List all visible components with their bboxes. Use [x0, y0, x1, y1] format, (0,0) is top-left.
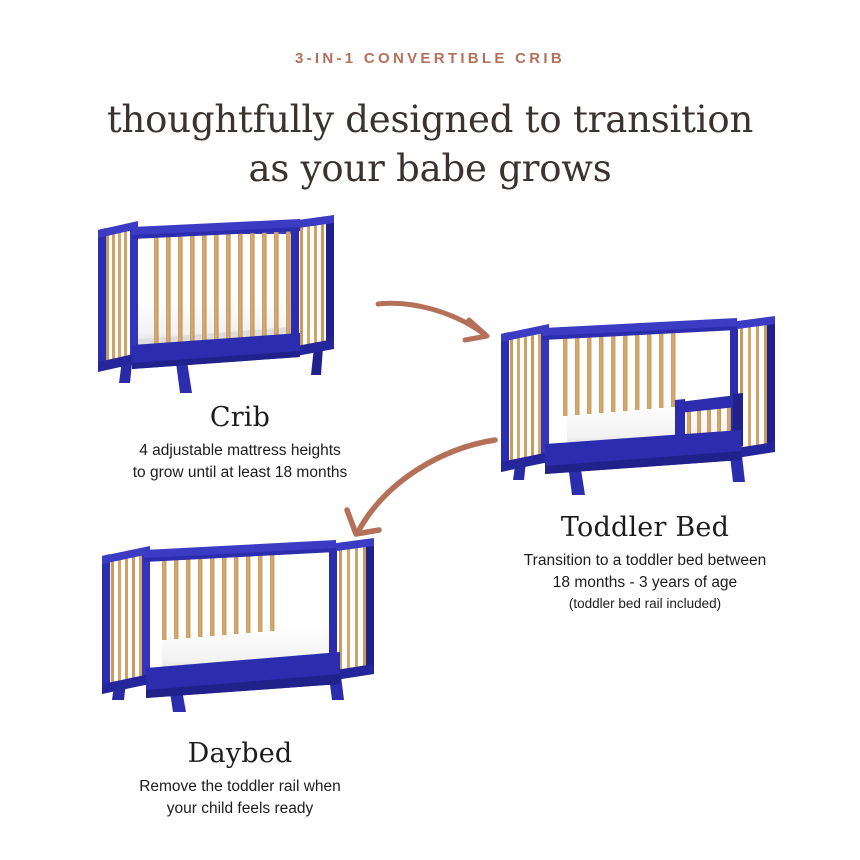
toddler-bed-caption: Toddler Bed Transition to a toddler bed … — [465, 512, 825, 614]
page-title: thoughtfully designed to transition as y… — [0, 96, 860, 194]
daybed-desc-line-1: Remove the toddler rail when — [45, 776, 435, 798]
toddler-bed-desc-line-1: Transition to a toddler bed between — [465, 550, 825, 572]
toddler-bed-back-rail — [543, 318, 737, 340]
daybed-back-slats — [162, 550, 274, 640]
crib-desc-line-2: to grow until at least 18 months — [50, 462, 430, 484]
toddler-bed-left-panel — [501, 324, 549, 472]
infographic-page: 3-IN-1 CONVERTIBLE CRIB thoughtfully des… — [0, 0, 860, 860]
crib-title: Crib — [50, 402, 430, 433]
crib-illustration — [92, 205, 337, 395]
toddler-bed-title: Toddler Bed — [465, 512, 825, 543]
headline-line-2: as your babe grows — [0, 145, 860, 194]
crib-caption: Crib 4 adjustable mattress heights to gr… — [50, 402, 430, 484]
daybed-back-rail — [144, 540, 336, 562]
daybed-illustration — [100, 532, 385, 714]
daybed-desc-line-2: your child feels ready — [45, 798, 435, 820]
daybed-caption: Daybed Remove the toddler rail when your… — [45, 738, 435, 820]
toddler-bed-illustration — [497, 312, 782, 497]
daybed-left-panel — [102, 546, 150, 694]
daybed-title: Daybed — [45, 738, 435, 769]
headline-line-1: thoughtfully designed to transition — [107, 98, 753, 141]
toddler-bed-desc-line-2: 18 months - 3 years of age — [465, 572, 825, 594]
toddler-bed-back-slats — [563, 328, 675, 416]
eyebrow-label: 3-IN-1 CONVERTIBLE CRIB — [0, 50, 860, 67]
crib-desc-line-1: 4 adjustable mattress heights — [50, 440, 430, 462]
toddler-bed-desc-line-3: (toddler bed rail included) — [465, 594, 825, 614]
